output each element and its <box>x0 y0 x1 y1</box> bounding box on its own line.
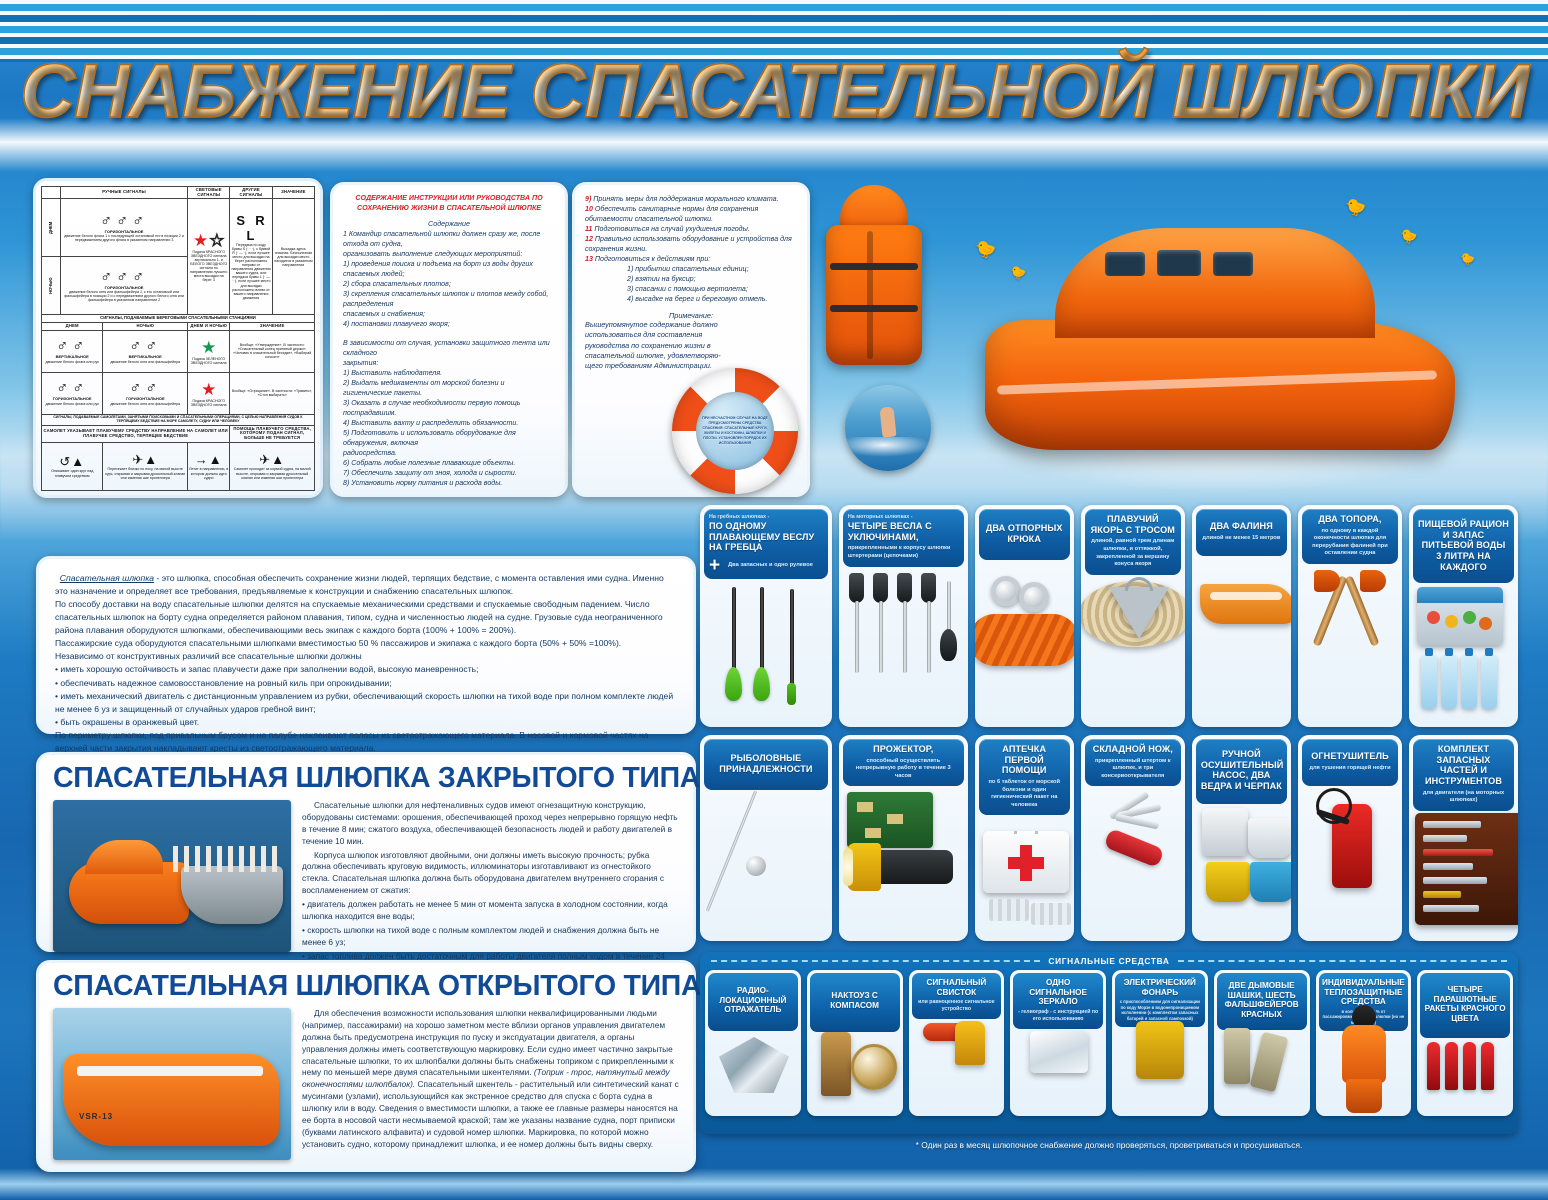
water-bottle <box>1461 655 1477 709</box>
signals-table: РУЧНЫЕ СИГНАЛЫ СВЕТОВЫЕ СИГНАЛЫ ДРУГИЕ С… <box>41 186 315 491</box>
jacket-strap-upper <box>830 263 918 270</box>
about-lifeboat-panel: Спасательная шлюпка - это шлюпка, способ… <box>36 556 696 734</box>
raised-hand-icon <box>879 406 896 437</box>
rocket <box>1481 1042 1494 1090</box>
closed-type-section: СПАСАТЕЛЬНАЯ ШЛЮПКА ЗАКРЫТОГО ТИПА Спаса… <box>36 752 696 952</box>
plane-cell-4: ✈▲ Самолет проходит за кормой судна, на … <box>230 442 315 490</box>
instr-line: 1) Выставить наблюдателя. <box>343 368 555 378</box>
open-type-text: Для обеспечения возможности использовани… <box>302 1008 679 1160</box>
card-sub-label: прикрепленными к корпусу шлюпки штертера… <box>848 545 959 560</box>
card-caption: РАДИО-ЛОКАЦИОННЫЙ ОТРАЖАТЕЛЬ <box>708 973 798 1031</box>
life-ring-photo: ПРИ НЕСЧАСТНОМ СЛУЧАЕ НА ВОДЕ ПРЕДУСМОТР… <box>672 368 798 494</box>
equipment-row-2: РЫБОЛОВНЫЕ ПРИНАДЛЕЖНОСТИ ПРОЖЕКТОР, спо… <box>700 735 1518 941</box>
tool <box>1423 877 1487 884</box>
card-main-label: РУЧНОЙ ОСУШИТЕЛЬНЫЙ НАСОС, ДВА ВЕДРА И Ч… <box>1201 749 1282 792</box>
about-p1: Спасательная шлюпка - это шлюпка, способ… <box>55 572 677 598</box>
card-main-label: ЧЕТЫРЕ ВЕСЛА С УКЛЮЧИНАМИ, <box>848 521 959 542</box>
oar-blade <box>725 667 742 701</box>
about-p2: По способу доставки на воду спасательные… <box>55 598 677 637</box>
instr-line: 6) Собрать любые полезные плавающие объе… <box>343 458 555 468</box>
morse-letters-icon: S RL <box>231 214 270 243</box>
card-main-label: ДВЕ ДЫМОВЫЕ ШАШКИ, ШЕСТЬ ФАЛЬШФЕЙЕРОВ КР… <box>1220 981 1304 1020</box>
card-main-label: СИГНАЛЬНЫЙ СВИСТОК <box>915 978 999 997</box>
card-caption: ЧЕТЫРЕ ПАРАШЮТНЫЕ РАКЕТЫ КРАСНОГО ЦВЕТА <box>1420 973 1510 1038</box>
th2-both: ДНЕМ И НОЧЬЮ <box>188 323 230 331</box>
cell-day-hand: ♂♂♂ ГОРИЗОНТАЛЬНОЕ движение белого флага… <box>61 199 188 257</box>
seagull-icon: 🐤 <box>975 240 996 260</box>
compass <box>851 1044 897 1090</box>
oar-blade <box>753 667 770 701</box>
torch-body <box>873 850 953 884</box>
card-main-label: РЫБОЛОВНЫЕ ПРИНАДЛЕЖНОСТИ <box>709 753 823 774</box>
ship-direction-icon: →▲ <box>189 453 228 468</box>
instruction-items-block: 9) Принять меры для поддержания морально… <box>585 194 797 304</box>
instruction-heading: СОДЕРЖАНИЕ ИНСТРУКЦИИ ИЛИ РУКОВОДСТВА ПО… <box>343 194 555 214</box>
cell-night-hand: ♂♂♂ ГОРИЗОНТАЛЬНОЕ движение белого огня … <box>61 257 188 315</box>
suit-torso <box>1342 1025 1386 1083</box>
pill-blister <box>989 899 1029 921</box>
tool <box>1423 905 1479 912</box>
axe-head-1 <box>1314 570 1340 592</box>
card-caption: СИГНАЛЬНЫЙ СВИСТОК или равноценное сигна… <box>912 973 1002 1019</box>
card-caption: ПРОЖЕКТОР, способный осуществлять непрер… <box>843 739 964 786</box>
signal-card-thermal-protection[interactable]: ИНДИВИДУАЛЬНЫЕ ТЕПЛОЗАЩИТНЫЕ СРЕДСТВА в … <box>1316 970 1412 1116</box>
boat-window-1 <box>1105 252 1145 276</box>
binnacle-compass-icon <box>807 1032 903 1116</box>
oar-blade <box>787 683 796 705</box>
boat-stripe <box>1210 592 1282 600</box>
equipment-card-boat-hooks[interactable]: ДВА ОТПОРНЫХ КРЮКА <box>975 505 1074 727</box>
rescue-signals-table-panel: РУЧНЫЕ СИГНАЛЫ СВЕТОВЫЕ СИГНАЛЫ ДРУГИЕ С… <box>33 178 323 498</box>
ship-cross-bow-icon: ✈▲ <box>104 453 186 468</box>
first-aid-kit-icon <box>975 815 1074 941</box>
equipment-card-painter-lines[interactable]: ДВА ФАЛИНЯ длиной не менее 15 метров <box>1192 505 1291 727</box>
tool <box>1423 891 1461 898</box>
heliograph-mirror-icon <box>1010 1029 1106 1116</box>
fishing-gear-icon <box>700 790 832 941</box>
card-main-label: ОГНЕТУШИТЕЛЬ <box>1307 751 1393 762</box>
chip <box>865 828 881 838</box>
case-handle <box>1014 831 1038 834</box>
card-caption: ОГНЕТУШИТЕЛЬ для тушения горящей нефти <box>1302 739 1398 786</box>
anchor-cone <box>1109 587 1169 639</box>
signal-card-binnacle-compass[interactable]: НАКТОУЗ С КОМПАСОМ <box>807 970 903 1116</box>
signal-card-whistle[interactable]: СИГНАЛЬНЫЙ СВИСТОК или равноценное сигна… <box>909 970 1005 1116</box>
card-caption: НАКТОУЗ С КОМПАСОМ <box>810 973 900 1032</box>
green-star-icon: ★ <box>189 338 228 357</box>
instr-line: 3) Оказать в случае необходимости первую… <box>343 398 555 418</box>
hook-ring-2 <box>1019 582 1049 612</box>
instr-subitem: 1) прибытии спасательных единиц; <box>585 264 797 274</box>
card-sub-label: - гелиограф - с инструкцией по его испол… <box>1016 1009 1100 1023</box>
circuit-board <box>847 792 933 848</box>
card-small-label: На моторных шлюпках - <box>848 514 959 521</box>
card-sub-label: с приспособлением для сигнализации по ко… <box>1118 999 1202 1021</box>
instr-line: 2) сбора спасательных плотов; <box>343 279 555 289</box>
tool <box>1423 863 1473 870</box>
plane-head-right: ПОМОЩЬ ПЛАВУЧЕГО СРЕДСТВА, КОТОРОМУ ПОДА… <box>230 425 315 442</box>
th2-day: ДНЕМ <box>42 323 103 331</box>
equipment-card-fishing[interactable]: РЫБОЛОВНЫЕ ПРИНАДЛЕЖНОСТИ <box>700 735 832 941</box>
jacket-body <box>826 225 922 365</box>
card-sub-label: способный осуществлять непрерывную работ… <box>848 758 959 781</box>
th-other-signals: ДРУГИЕ СИГНАЛЫ <box>230 187 272 199</box>
card-main-label: ПО ОДНОМУ ПЛАВАЮЩЕМУ ВЕСЛУ НА ГРЕБЦА <box>709 521 823 553</box>
seagull-icon: 🐤 <box>1010 265 1026 281</box>
photo-lifeboat-canopy <box>85 840 163 874</box>
signal-cards-row: РАДИО-ЛОКАЦИОННЫЙ ОТРАЖАТЕЛЬ НАКТОУЗ С К… <box>705 970 1513 1116</box>
card-main-label: ПЛАВУЧИЙ ЯКОРЬ С ТРОСОМ <box>1090 514 1176 535</box>
closed-p2: Корпуса шлюпок изготовляют двойными, они… <box>302 850 679 898</box>
card-main-label: СКЛАДНОЙ НОЖ, <box>1090 744 1176 755</box>
closed-p1: Спасательные шлюпки для нефтеналивных су… <box>302 800 679 848</box>
red-cross-icon <box>1008 857 1044 869</box>
oar-shaft <box>879 601 883 673</box>
equipment-card-extinguisher[interactable]: ОГНЕТУШИТЕЛЬ для тушения горящей нефти <box>1298 735 1402 941</box>
card-caption: На моторных шлюпках - ЧЕТЫРЕ ВЕСЛА С УКЛ… <box>843 509 964 567</box>
equipment-card-food-water[interactable]: ПИЩЕВОЙ РАЦИОН И ЗАПАС ПИТЬЕВОЙ ВОДЫ 3 Л… <box>1409 505 1518 727</box>
water-bottle <box>1481 655 1497 709</box>
card-main-label: ИНДИВИДУАЛЬНЫЕ ТЕПЛОЗАЩИТНЫЕ СРЕДСТВА <box>1322 978 1406 1007</box>
equipment-card-searchlight[interactable]: ПРОЖЕКТОР, способный осуществлять непрер… <box>839 735 968 941</box>
life-jacket-photo <box>820 185 928 375</box>
about-bullet: • иметь механический двигатель с дистанц… <box>55 690 677 716</box>
about-bullet: • быть окрашены в оранжевый цвет. <box>55 716 677 729</box>
life-ring-inner: ПРИ НЕСЧАСТНОМ СЛУЧАЕ НА ВОДЕ ПРЕДУСМОТР… <box>696 392 774 470</box>
photo-boat-bench <box>77 1066 263 1076</box>
about-p4: Независимо от конструктивных различий вс… <box>55 650 677 663</box>
instr-line: 7) Обеспечить защиту от зноя, холода и с… <box>343 468 555 478</box>
card-main-label: ЧЕТЫРЕ ПАРАШЮТНЫЕ РАКЕТЫ КРАСНОГО ЦВЕТА <box>1423 985 1507 1024</box>
medical-case <box>983 831 1069 893</box>
signal-whistle-icon <box>909 1019 1005 1116</box>
card-caption: ПЛАВУЧИЙ ЯКОРЬ С ТРОСОМ длиной, равной т… <box>1085 509 1181 575</box>
open-boat-photo: VSR-13 <box>53 1008 291 1160</box>
spare-oar-blade <box>940 629 957 661</box>
water-bottle <box>1441 655 1457 709</box>
card-caption: ДВА ТОПОРА, по одному в каждой оконечнос… <box>1302 509 1398 564</box>
card-main-label: НАКТОУЗ С КОМПАСОМ <box>813 991 897 1010</box>
seagull-icon: 🐤 <box>1460 252 1475 266</box>
white-star-icon: ☆ <box>209 231 224 250</box>
instr-line: организовать выполнение следующих меропр… <box>343 249 555 259</box>
suit-legs <box>1346 1079 1382 1113</box>
card-sub-label: или равноценное сигнальное устройство <box>915 999 999 1013</box>
card-caption: ДВЕ ДЫМОВЫЕ ШАШКИ, ШЕСТЬ ФАЛЬШФЕЙЕРОВ КР… <box>1217 973 1307 1030</box>
water-splash <box>845 437 931 457</box>
boat-hook-icon <box>975 560 1074 727</box>
oar-shaft <box>732 587 736 673</box>
instr-item: 11 Подготовиться на случай ухудшения пог… <box>585 224 797 234</box>
smoke-flares-icon <box>1214 1030 1310 1116</box>
hand-signal-figures-night-icon: ♂♂♂ <box>62 270 186 286</box>
bucket-yellow <box>1206 862 1250 902</box>
rocket <box>1427 1042 1440 1090</box>
signal-band-title: СИГНАЛЬНЫЕ СРЕДСТВА <box>1048 956 1169 966</box>
card-main-label: ОДНО СИГНАЛЬНОЕ ЗЕРКАЛО <box>1016 978 1100 1007</box>
instr-subitem: 4) высадке на берег и береговую отмель. <box>585 294 797 304</box>
b2-day: ♂♂ ГОРИЗОНТАЛЬНОЕ движение белого флага … <box>42 372 103 414</box>
instr-line: 2) Выдать медикаменты от морской болезни… <box>343 378 555 398</box>
band-aircraft-signals: СИГНАЛЫ, ПОДАВАЕМЫЕ САМОЛЕТАМИ, ЗАНЯТЫМИ… <box>42 414 315 425</box>
binnacle <box>821 1032 851 1096</box>
oar-shaft <box>790 589 794 689</box>
equipment-card-pump-buckets[interactable]: РУЧНОЙ ОСУШИТЕЛЬНЫЙ НАСОС, ДВА ВЕДРА И Ч… <box>1192 735 1291 941</box>
hand-pump <box>1202 808 1248 856</box>
hook-ring-1 <box>991 576 1021 606</box>
cell-meaning: Высадка здесь опасная. Бесполезная для в… <box>272 199 314 315</box>
card-plus-label: Два запасных и одно рулевое <box>728 562 813 570</box>
equipment-card-oars-rowing[interactable]: На гребных шлюпках - ПО ОДНОМУ ПЛАВАЮЩЕМ… <box>700 505 832 727</box>
card-caption: На гребных шлюпках - ПО ОДНОМУ ПЛАВАЮЩЕМ… <box>704 509 828 579</box>
tool <box>1423 849 1493 856</box>
lantern-body <box>1136 1021 1184 1079</box>
plane-cell-1: ↺▲ Описывает один круг над плавучим сред… <box>42 442 103 490</box>
equipment-card-folding-knife[interactable]: СКЛАДНОЙ НОЖ, прикрепленный штертом к шл… <box>1081 735 1185 941</box>
oar-blade <box>849 573 864 603</box>
th2-meaning: ЗНАЧЕНИЕ <box>230 323 315 331</box>
card-sub-label: прикрепленный штертом к шлюпке, и три ко… <box>1090 758 1176 781</box>
tool-case <box>1415 813 1518 925</box>
signal-mirror <box>1030 1031 1088 1073</box>
jacket-strap-lower <box>830 305 918 312</box>
b2-both: ★ Подача КРАСНОГО ЗВЕЗДНОГО сигнала <box>188 372 230 414</box>
closed-type-title: СПАСАТЕЛЬНАЯ ШЛЮПКА ЗАКРЫТОГО ТИПА <box>53 763 679 794</box>
row-label-night: НОЧЬЮ <box>42 257 61 315</box>
note-body: Вышеупомянутое содержание должно использ… <box>585 320 727 372</box>
extinguisher-hose <box>1316 788 1352 824</box>
about-bullet: • обеспечивать надежное самовосстановлен… <box>55 677 677 690</box>
b1-day: ♂♂ ВЕРТИКАЛЬНОЕ движение белого флага ил… <box>42 330 103 372</box>
card-small-label: На гребных шлюпках - <box>709 514 823 521</box>
food-item <box>1463 611 1476 624</box>
instr-item: 12 Правильно использовать оборудование и… <box>585 234 797 254</box>
instr-line: 4) постановки плавучего якоря; <box>343 319 555 329</box>
about-p3: Пассажирские суда оборудуются спасательн… <box>55 637 677 650</box>
instr-line: 5) Подготовить и использовать оборудован… <box>343 428 555 448</box>
instr-line: 4) Выставить вахту и распределить обязан… <box>343 418 555 428</box>
card-main-label: ДВА ОТПОРНЫХ КРЮКА <box>984 523 1065 544</box>
oar-blade <box>873 573 888 603</box>
hand-signal-figures-icon: ♂♂♂ <box>62 214 186 230</box>
seagull-icon: 🐤 <box>1345 198 1366 218</box>
card-main-label: КОМПЛЕКТ ЗАПАСНЫХ ЧАСТЕЙ И ИНСТРУМЕНТОВ <box>1418 744 1509 787</box>
red-star-icon: ★ <box>193 231 208 250</box>
card-caption: РЫБОЛОВНЫЕ ПРИНАДЛЕЖНОСТИ <box>704 739 828 790</box>
reflector-body <box>719 1037 789 1093</box>
card-sub-label: длиной не менее 15 метров <box>1201 535 1282 543</box>
b2-night: ♂♂ ГОРИЗОНТАЛЬНОЕ движение белого огня и… <box>103 372 188 414</box>
vertical-flag-figure-icon: ♂♂ <box>43 339 101 355</box>
th2-night: НОЧЬЮ <box>103 323 188 331</box>
cell-light-signal: ★ ☆ Подача КРАСНОГО ЗВЕЗДНОГО сигнала ве… <box>188 199 230 315</box>
fire-extinguisher-icon <box>1298 786 1402 941</box>
closed-boat-photo <box>53 800 291 952</box>
equipment-card-sea-anchor[interactable]: ПЛАВУЧИЙ ЯКОРЬ С ТРОСОМ длиной, равной т… <box>1081 505 1185 727</box>
instruction-lines-block: 1 Командир спасательной шлюпки должен ср… <box>343 229 555 488</box>
card-main-label: ПИЩЕВОЙ РАЦИОН И ЗАПАС ПИТЬЕВОЙ ВОДЫ 3 Л… <box>1418 519 1509 573</box>
sea-anchor-rope-icon <box>1081 575 1185 727</box>
photo-rescue-vessel <box>181 866 283 924</box>
closed-b1: • двигатель должен работать не менее 5 м… <box>302 899 679 923</box>
th-meaning: ЗНАЧЕНИЕ <box>272 187 314 199</box>
smoke-canister <box>1224 1028 1250 1084</box>
page-title: СНАБЖЕНИЕ СПАСАТЕЛЬНОЙ ШЛЮПКИ <box>0 48 1548 135</box>
instr-line: закрытия: <box>343 358 555 368</box>
row-label-day: ДНЕМ <box>42 199 61 257</box>
card-plus-row: + Два запасных и одно рулевое <box>709 558 823 573</box>
life-ring-text: ПРИ НЕСЧАСТНОМ СЛУЧАЕ НА ВОДЕ ПРЕДУСМОТР… <box>696 416 774 446</box>
searchlight-icon <box>839 786 968 941</box>
oars-green-icon <box>700 579 832 727</box>
oar-shaft <box>855 601 859 673</box>
instr-item: 10 Обеспечить санитарные нормы для сохра… <box>585 204 797 224</box>
card-caption: АПТЕЧКА ПЕРВОЙ ПОМОЩИ по 6 таблеток от м… <box>979 739 1070 815</box>
equipment-row-1: На гребных шлюпках - ПО ОДНОМУ ПЛАВАЮЩЕМ… <box>700 505 1518 727</box>
oar-blade <box>921 573 936 603</box>
water-bottle <box>1421 655 1437 709</box>
food-item <box>1427 611 1440 624</box>
card-main-label: ДВА ТОПОРА, <box>1307 514 1393 525</box>
knife-handle <box>1103 828 1164 868</box>
closed-b2: • скорость шлюпки на тихой воде с полным… <box>302 925 679 949</box>
parachute-rockets-icon <box>1417 1038 1513 1116</box>
card-caption: ОДНО СИГНАЛЬНОЕ ЗЕРКАЛО - гелиограф - с … <box>1013 973 1103 1029</box>
b1-both: ★ Подача ЗЕЛЕНОГО ЗВЕЗДНОГО сигнала <box>188 330 230 372</box>
horizontal-light-figure-icon: ♂♂ <box>104 381 186 397</box>
open-type-title: СПАСАТЕЛЬНАЯ ШЛЮПКА ОТКРЫТОГО ТИПА <box>53 971 679 1002</box>
band-shore-stations: СИГНАЛЫ, ПОДАВАЕМЫЕ БЕРЕГОВЫМИ СПАСАТЕЛЬ… <box>42 315 315 323</box>
plus-icon: + <box>709 558 720 573</box>
instr-line: В зависимости от случая, установки защит… <box>343 338 555 358</box>
card-caption: ДВА ФАЛИНЯ длиной не менее 15 метров <box>1196 509 1287 556</box>
card-sub-label: по одному в каждой оконечности шлюпки дл… <box>1307 528 1393 558</box>
card-sub-label: для двигателя (на моторных шлюпках) <box>1418 790 1509 805</box>
card-caption: КОМПЛЕКТ ЗАПАСНЫХ ЧАСТЕЙ И ИНСТРУМЕНТОВ … <box>1413 739 1514 811</box>
instruction-subheading: Содержание <box>343 219 555 228</box>
oar-blade <box>897 573 912 603</box>
orange-strap <box>975 614 1074 666</box>
card-sub-label: по 6 таблеток от морской болезни и один … <box>984 779 1065 809</box>
instruction-content-panel: СОДЕРЖАНИЕ ИНСТРУКЦИИ ИЛИ РУКОВОДСТВА ПО… <box>330 182 568 497</box>
card-caption: ПИЩЕВОЙ РАЦИОН И ЗАПАС ПИТЬЕВОЙ ВОДЫ 3 Л… <box>1413 509 1514 583</box>
b2-meaning: Вообще: «Отрицание». В частности: «Трави… <box>230 372 315 414</box>
boat-canopy <box>1055 228 1375 338</box>
red-star-2-icon: ★ <box>189 380 228 399</box>
radar-reflector-icon <box>705 1031 801 1116</box>
torch-lens <box>843 848 853 886</box>
signal-beacon <box>955 1021 985 1065</box>
cooler-lid <box>1417 587 1503 603</box>
plane-cell-2: ✈▲ Пересекает близко по носу, на малой в… <box>103 442 188 490</box>
boat-window-2 <box>1157 250 1201 276</box>
about-p5: По периметру шлюпки, под привальным брус… <box>55 729 677 755</box>
closed-type-text: Спасательные шлюпки для нефтеналивных су… <box>302 800 679 977</box>
card-caption: РУЧНОЙ ОСУШИТЕЛЬНЫЙ НАСОС, ДВА ВЕДРА И Ч… <box>1196 739 1287 804</box>
signal-card-heliograph[interactable]: ОДНО СИГНАЛЬНОЕ ЗЕРКАЛО - гелиограф - с … <box>1010 970 1106 1116</box>
plane-head-left: САМОЛЕТ УКАЗЫВАЕТ ПЛАВУЧЕМУ СРЕДСТВУ НАП… <box>42 425 230 442</box>
oar-shaft <box>903 601 907 673</box>
rocket <box>1445 1042 1458 1090</box>
signal-card-parachute-rockets[interactable]: ЧЕТЫРЕ ПАРАШЮТНЫЕ РАКЕТЫ КРАСНОГО ЦВЕТА <box>1417 970 1513 1116</box>
boat-window-3 <box>1213 252 1253 276</box>
signal-devices-section: СИГНАЛЬНЫЕ СРЕДСТВА РАДИО-ЛОКАЦИОННЫЙ ОТ… <box>700 952 1518 1134</box>
vertical-light-figure-icon: ♂♂ <box>104 339 186 355</box>
boat-hull-label: VSR-13 <box>79 1112 113 1121</box>
fishing-reel <box>746 856 766 876</box>
pill-blister <box>1031 903 1071 925</box>
instr-item: 9) Принять меры для поддержания морально… <box>585 194 797 204</box>
closed-lifeboat-photo <box>985 200 1455 480</box>
photo-people <box>173 846 283 872</box>
card-caption: ДВА ОТПОРНЫХ КРЮКА <box>979 509 1070 560</box>
jacket-zipper <box>867 231 873 359</box>
painter-line-icon <box>1192 556 1291 727</box>
instr-line: 1) проведения поиска и подъема на борт и… <box>343 259 555 279</box>
knife-blade <box>1115 814 1159 830</box>
dash-line-right <box>1178 960 1507 962</box>
rocket <box>1463 1042 1476 1090</box>
card-caption: СКЛАДНОЙ НОЖ, прикрепленный штертом к шл… <box>1085 739 1181 786</box>
chip <box>887 814 903 824</box>
anchor-shackle <box>1125 577 1153 591</box>
food-item <box>1479 617 1492 630</box>
spare-parts-toolkit-icon <box>1409 811 1518 941</box>
oars-dark-icon <box>839 567 968 727</box>
instr-line: спасаемых и снабжения; <box>343 309 555 319</box>
axe-head-2 <box>1360 570 1386 592</box>
equipment-card-spare-parts[interactable]: КОМПЛЕКТ ЗАПАСНЫХ ЧАСТЕЙ И ИНСТРУМЕНТОВ … <box>1409 735 1518 941</box>
bucket-white <box>1248 818 1291 858</box>
swimmer-in-water-photo <box>845 385 931 471</box>
th-hand-signals: РУЧНЫЕ СИГНАЛЫ <box>61 187 188 199</box>
instr-item: 13 Подготовиться к действиям при: <box>585 254 797 264</box>
instr-line: 1 Командир спасательной шлюпки должен ср… <box>343 229 555 249</box>
boat-silhouette <box>1200 584 1291 624</box>
ship-circle-icon: ↺▲ <box>43 455 101 470</box>
tool <box>1423 821 1481 828</box>
instr-subitem: 2) взятии на буксир; <box>585 274 797 284</box>
signal-band-header: СИГНАЛЬНЫЕ СРЕДСТВА <box>705 956 1513 970</box>
fishing-rod <box>706 791 757 913</box>
equipment-card-first-aid[interactable]: АПТЕЧКА ПЕРВОЙ ПОМОЩИ по 6 таблеток от м… <box>975 735 1074 941</box>
instr-subitem: 3) спасании с помощью вертолета; <box>585 284 797 294</box>
footnote-text: * Один раз в месяц шлюпочное снабжение д… <box>700 1140 1518 1150</box>
equipment-grid: На гребных шлюпках - ПО ОДНОМУ ПЛАВАЮЩЕМ… <box>700 505 1518 945</box>
hand-pump-buckets-icon <box>1192 804 1291 941</box>
open-type-section: СПАСАТЕЛЬНАЯ ШЛЮПКА ОТКРЫТОГО ТИПА VSR-1… <box>36 960 696 1172</box>
signal-card-smoke-flares[interactable]: ДВЕ ДЫМОВЫЕ ШАШКИ, ШЕСТЬ ФАЛЬШФЕЙЕРОВ КР… <box>1214 970 1310 1116</box>
cell-other-signal: S RL Передача по коду буквы S (· · ·), с… <box>230 199 272 315</box>
about-bullet: • иметь хорошую остойчивость и запас пла… <box>55 663 677 676</box>
smoke-canister <box>1249 1031 1288 1092</box>
instr-line: 3) скрепления спасательных шлюпок и плот… <box>343 289 555 309</box>
signal-card-electric-lantern[interactable]: ЭЛЕКТРИЧЕСКИЙ ФОНАРЬ с приспособлением д… <box>1112 970 1208 1116</box>
about-text: Спасательная шлюпка - это шлюпка, способ… <box>55 572 677 755</box>
folding-knife-icon <box>1081 786 1185 941</box>
th-light-signals: СВЕТОВЫЕ СИГНАЛЫ <box>188 187 230 199</box>
equipment-card-axes[interactable]: ДВА ТОПОРА, по одному в каждой оконечнос… <box>1298 505 1402 727</box>
chip <box>857 802 873 812</box>
food-cooler <box>1417 587 1503 645</box>
signal-card-radar-reflector[interactable]: РАДИО-ЛОКАЦИОННЫЙ ОТРАЖАТЕЛЬ <box>705 970 801 1116</box>
equipment-card-oars-motor[interactable]: На моторных шлюпках - ЧЕТЫРЕ ВЕСЛА С УКЛ… <box>839 505 968 727</box>
card-sub-label: для тушения горящей нефти <box>1307 765 1393 773</box>
card-main-label: ДВА ФАЛИНЯ <box>1201 521 1282 532</box>
ship-astern-icon: ✈▲ <box>231 453 313 468</box>
card-sub-label: длиной, равной трем длинам шлюпки, и отт… <box>1090 538 1176 568</box>
oar-shaft <box>927 601 931 673</box>
